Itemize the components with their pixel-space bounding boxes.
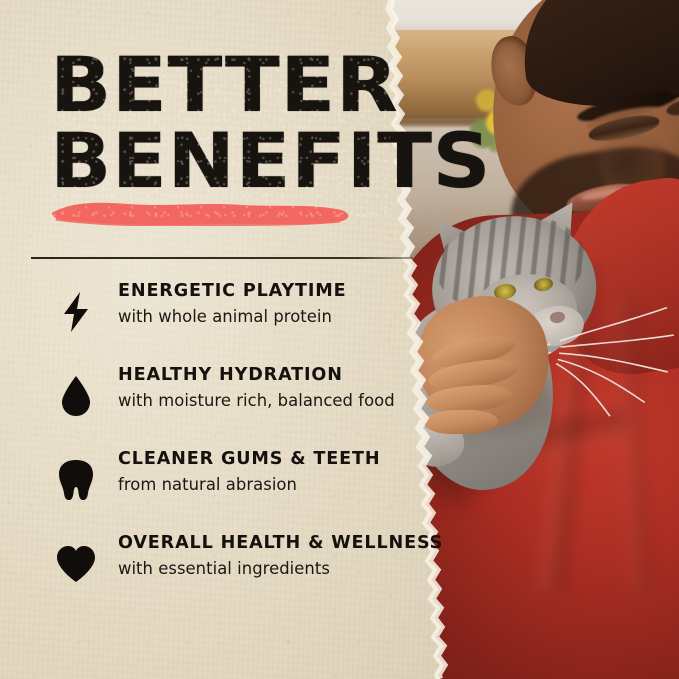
list-item-text: ENERGETIC PLAYTIME with whole animal pro… <box>118 282 458 326</box>
list-item-text: OVERALL HEALTH & WELLNESS with essential… <box>118 534 458 578</box>
benefit-subtitle: with whole animal protein <box>118 307 458 327</box>
list-item-text: HEALTHY HYDRATION with moisture rich, ba… <box>118 366 458 410</box>
tooth-icon <box>54 456 98 504</box>
list-item: CLEANER GUMS & TEETH from natural abrasi… <box>0 450 460 534</box>
heart-icon <box>54 540 98 588</box>
list-item: ENERGETIC PLAYTIME with whole animal pro… <box>0 282 460 366</box>
list-item: HEALTHY HYDRATION with moisture rich, ba… <box>0 366 460 450</box>
headline-line-2: BENEFITS <box>50 130 410 192</box>
lightning-bolt-icon <box>54 288 98 336</box>
list-item: OVERALL HEALTH & WELLNESS with essential… <box>0 534 460 618</box>
benefit-subtitle: with essential ingredients <box>118 559 458 579</box>
benefit-title: OVERALL HEALTH & WELLNESS <box>118 534 458 554</box>
benefit-title: CLEANER GUMS & TEETH <box>118 450 458 470</box>
divider <box>31 257 413 259</box>
benefits-list: ENERGETIC PLAYTIME with whole animal pro… <box>0 282 460 618</box>
page-title: BETTER BENEFITS <box>50 54 390 193</box>
benefit-subtitle: from natural abrasion <box>118 475 458 495</box>
water-drop-icon <box>54 372 98 420</box>
benefit-title: HEALTHY HYDRATION <box>118 366 458 386</box>
benefit-title: ENERGETIC PLAYTIME <box>118 282 458 302</box>
product-benefits-poster: BETTER BENEFITS ENERGETIC PLAYTIME with … <box>0 0 679 679</box>
list-item-text: CLEANER GUMS & TEETH from natural abrasi… <box>118 450 458 494</box>
headline-line-1: BETTER <box>50 54 410 116</box>
poster-content: BETTER BENEFITS ENERGETIC PLAYTIME with … <box>0 0 460 679</box>
benefit-subtitle: with moisture rich, balanced food <box>118 391 458 411</box>
